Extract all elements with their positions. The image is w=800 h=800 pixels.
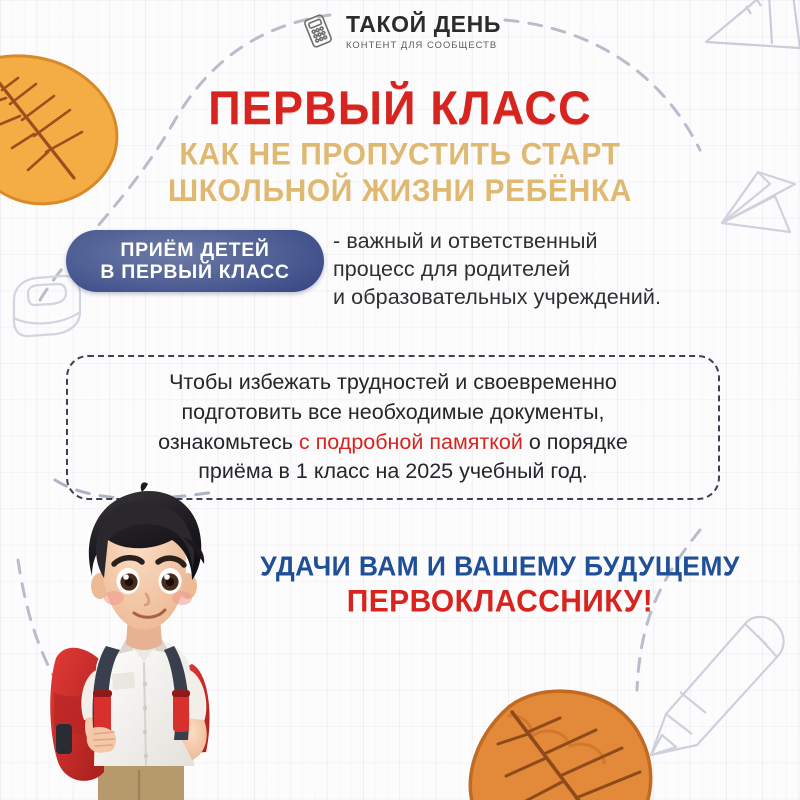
closing-line-2: ПЕРВОКЛАССНИКУ! [0,584,800,620]
eraser-icon [14,276,80,336]
note-line-1: Чтобы избежать трудностей и своевременно [169,368,617,398]
brand-logo-text: ТАКОЙ ДЕНЬ КОНТЕНТ ДЛЯ СООБЩЕСТВ [346,12,501,50]
calculator-icon [299,12,337,50]
brand-name: ТАКОЙ ДЕНЬ [346,12,501,36]
note-line-3: ознакомьтесь с подробной памяткой о поря… [158,428,628,458]
pencil-icon [651,617,784,755]
lead-paragraph: - важный и ответственный процесс для род… [333,228,773,312]
closing-line-1: УДАЧИ ВАМ И ВАШЕМУ БУДУЩЕМУ [0,550,800,583]
autumn-leaf-bottom [470,691,650,800]
page-subtitle-line-1: КАК НЕ ПРОПУСТИТЬ СТАРТ [0,137,800,174]
lead-line-3: и образовательных учреждений. [333,284,773,312]
page-subtitle: КАК НЕ ПРОПУСТИТЬ СТАРТ ШКОЛЬНОЙ ЖИЗНИ Р… [0,137,800,211]
admission-badge-line-1: ПРИЁМ ДЕТЕЙ [120,239,269,261]
poster-canvas: ТАКОЙ ДЕНЬ КОНТЕНТ ДЛЯ СООБЩЕСТВ ПЕРВЫЙ … [0,0,800,800]
admission-badge-line-2: В ПЕРВЫЙ КЛАСС [100,261,289,283]
note-line-3-pre: ознакомьтесь [158,430,299,454]
page-title: ПЕРВЫЙ КЛАСС [0,80,800,135]
note-line-2: подготовить все необходимые документы, [181,398,604,428]
lead-line-2: процесс для родителей [333,256,773,284]
note-line-3-post: о порядке [523,430,628,454]
note-box: Чтобы избежать трудностей и своевременно… [66,355,720,500]
brand-tagline: КОНТЕНТ ДЛЯ СООБЩЕСТВ [346,39,497,50]
note-line-4: приёма в 1 класс на 2025 учебный год. [198,457,588,487]
schoolboy-with-backpack [34,478,274,800]
page-subtitle-line-2: ШКОЛЬНОЙ ЖИЗНИ РЕБЁНКА [0,173,800,210]
lead-line-1: - важный и ответственный [333,228,773,256]
memo-link[interactable]: с подробной памяткой [299,430,523,454]
admission-badge: ПРИЁМ ДЕТЕЙ В ПЕРВЫЙ КЛАСС [66,230,324,292]
brand-logo: ТАКОЙ ДЕНЬ КОНТЕНТ ДЛЯ СООБЩЕСТВ [0,12,800,50]
